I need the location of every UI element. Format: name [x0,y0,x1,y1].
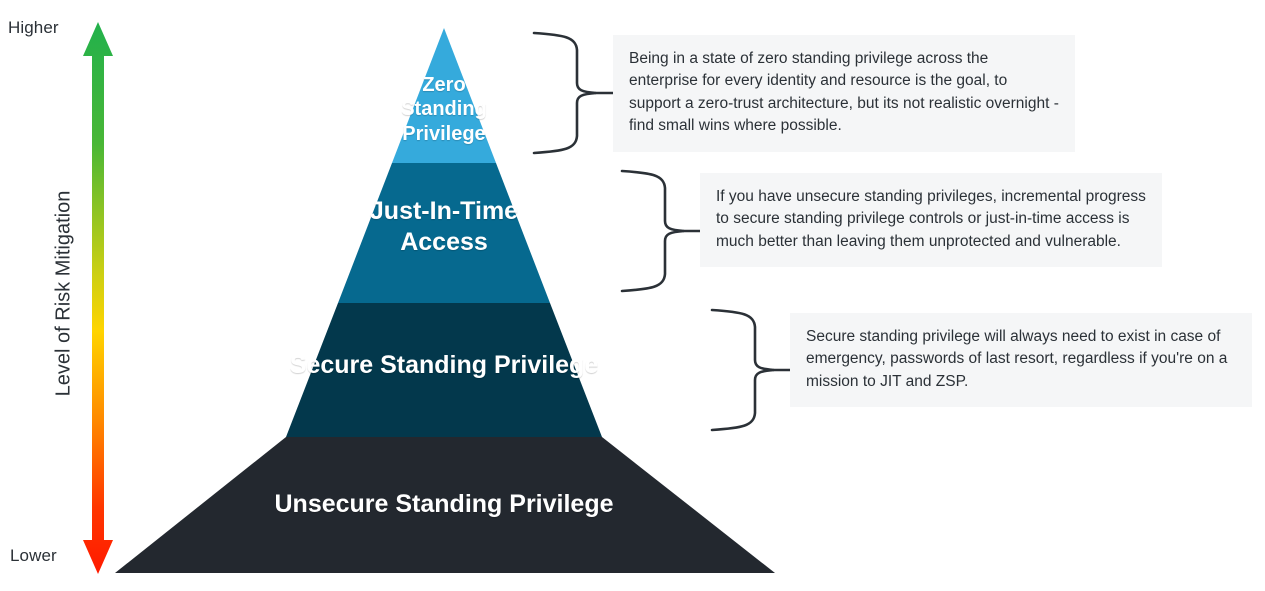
brace-icon-secure-standing-privilege [708,305,798,433]
diagram-canvas: Higher Lower Level of Risk Mitigation [0,0,1265,591]
pyramid-tier-secure-standing-privilege[interactable] [286,303,602,437]
brace-icon-just-in-time-access [618,166,708,294]
brace-icon-zero-standing-privilege [530,28,620,156]
pyramid-tier-just-in-time-access[interactable] [338,163,550,303]
callout-just-in-time-access: If you have unsecure standing privileges… [700,173,1162,267]
callout-secure-standing-privilege: Secure standing privilege will always ne… [790,313,1252,407]
callout-zero-standing-privilege: Being in a state of zero standing privil… [613,35,1075,152]
pyramid-tier-unsecure-standing-privilege[interactable] [115,437,775,573]
pyramid-tier-zero-standing-privilege[interactable] [392,28,496,163]
